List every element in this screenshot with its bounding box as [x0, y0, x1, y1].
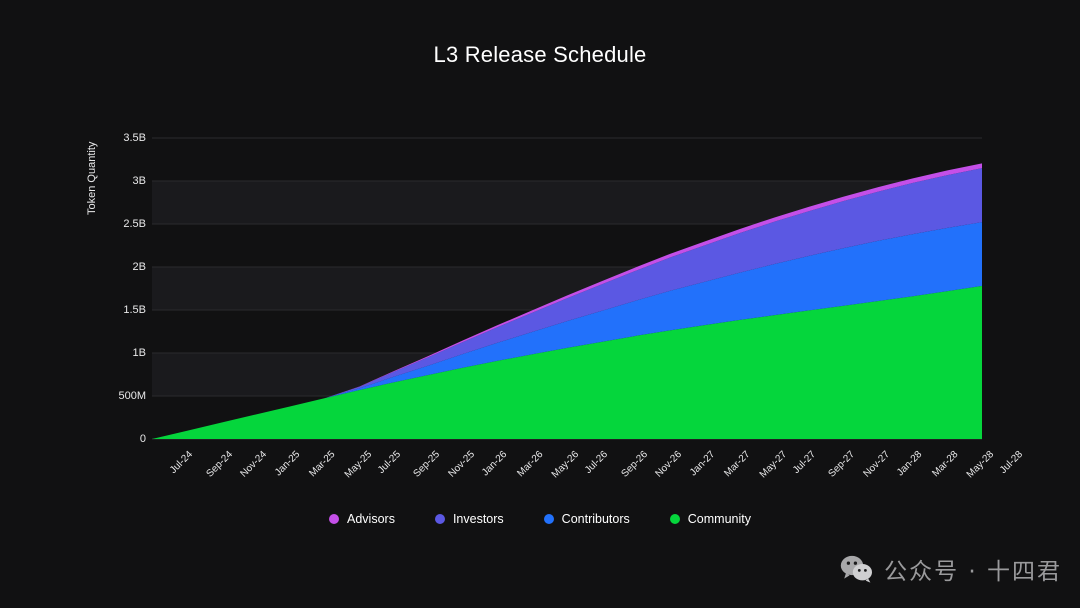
x-tick-label: Mar-25	[308, 449, 338, 479]
legend-item-contributors[interactable]: Contributors	[544, 512, 630, 526]
x-tick-label: Jan-27	[688, 449, 717, 478]
watermark-text: 公众号 · 十四君	[884, 552, 1062, 586]
x-tick-label: Jul-26	[583, 449, 610, 476]
x-tick-label: Nov-26	[654, 449, 685, 480]
x-tick-label: May-26	[550, 449, 581, 480]
chart-legend: AdvisorsInvestorsContributorsCommunity	[0, 512, 1080, 526]
x-tick-label: Sep-26	[619, 449, 650, 480]
x-tick-label: Jul-28	[998, 449, 1025, 476]
x-tick-label: Jan-28	[895, 449, 924, 478]
x-tick-label: Nov-25	[446, 449, 477, 480]
x-tick-label: May-27	[758, 449, 789, 480]
legend-item-advisors[interactable]: Advisors	[329, 512, 395, 526]
legend-swatch-icon	[544, 514, 554, 524]
x-tick-label: Nov-24	[239, 449, 270, 480]
legend-label: Advisors	[347, 512, 395, 526]
x-tick-label: May-25	[343, 449, 374, 480]
legend-label: Community	[688, 512, 751, 526]
legend-label: Investors	[453, 512, 504, 526]
x-tick-label: Sep-25	[412, 449, 443, 480]
legend-item-community[interactable]: Community	[670, 512, 751, 526]
x-tick-label: Nov-27	[861, 449, 892, 480]
x-tick-label: Mar-26	[515, 449, 545, 479]
x-tick-label: Mar-27	[723, 449, 753, 479]
x-tick-label: Mar-28	[930, 449, 960, 479]
x-tick-label: Jul-27	[790, 449, 817, 476]
legend-label: Contributors	[562, 512, 630, 526]
legend-swatch-icon	[670, 514, 680, 524]
x-tick-label: Jul-24	[168, 449, 195, 476]
legend-swatch-icon	[435, 514, 445, 524]
x-tick-label: Sep-27	[827, 449, 858, 480]
legend-swatch-icon	[329, 514, 339, 524]
x-tick-label: Jul-25	[375, 449, 402, 476]
chart-page: L3 Release Schedule Token Quantity 0500M…	[0, 0, 1080, 608]
x-tick-label: Sep-24	[204, 449, 235, 480]
watermark: 公众号 · 十四君	[840, 552, 1062, 586]
x-tick-label: May-28	[965, 449, 996, 480]
x-tick-label: Jan-25	[273, 449, 302, 478]
legend-item-investors[interactable]: Investors	[435, 512, 504, 526]
wechat-icon	[840, 555, 874, 583]
x-tick-label: Jan-26	[480, 449, 509, 478]
